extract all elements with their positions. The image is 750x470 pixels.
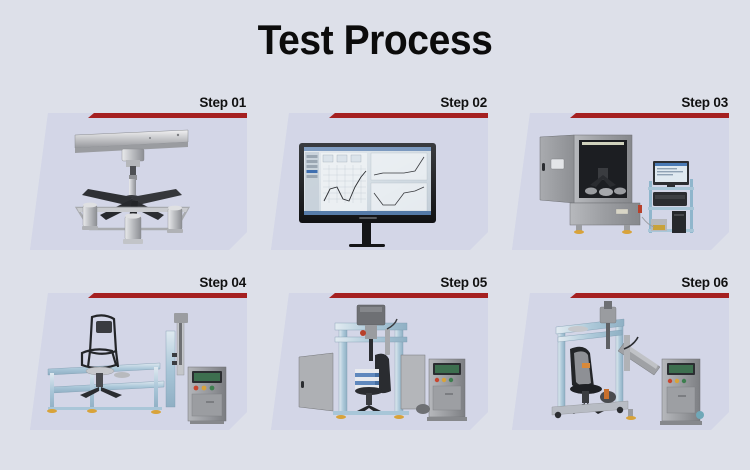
step-card-04[interactable]: Step 04 [30, 275, 247, 430]
step-image-03 [512, 113, 729, 250]
accent-bar-05 [329, 293, 488, 298]
chair-base-static-load-tester-icon [30, 113, 247, 250]
step-image-04 [30, 293, 247, 430]
accent-bar-03 [570, 113, 729, 118]
backrest-durability-tester-icon [512, 293, 729, 430]
step-image-01 [30, 113, 247, 250]
seat-impact-drop-tester-icon [271, 293, 488, 430]
step-card-05[interactable]: Step 05 [271, 275, 488, 430]
step-image-06 [512, 293, 729, 430]
step-label-03: Step 03 [512, 95, 729, 113]
step-image-05 [271, 293, 488, 430]
step-label-06: Step 06 [512, 275, 729, 293]
step-image-02 [271, 113, 488, 250]
step-card-06[interactable]: Step 06 [512, 275, 729, 430]
accent-bar-04 [88, 293, 247, 298]
page-title: Test Process [26, 14, 724, 66]
accent-bar-02 [329, 113, 488, 118]
enclosed-caster-durability-cabinet-icon [512, 113, 729, 250]
test-software-monitor-icon [271, 113, 488, 250]
test-process-page: Test Process Step 01 [0, 0, 750, 470]
step-label-01: Step 01 [30, 95, 247, 113]
steps-grid: Step 01 [30, 95, 730, 430]
step-card-03[interactable]: Step 03 [512, 95, 729, 250]
step-card-01[interactable]: Step 01 [30, 95, 247, 250]
step-label-02: Step 02 [271, 95, 488, 113]
step-label-05: Step 05 [271, 275, 488, 293]
step-label-04: Step 04 [30, 275, 247, 293]
chair-frame-horizontal-fatigue-bench-icon [30, 293, 247, 430]
accent-bar-06 [570, 293, 729, 298]
step-card-02[interactable]: Step 02 [271, 95, 488, 250]
accent-bar-01 [88, 113, 247, 118]
